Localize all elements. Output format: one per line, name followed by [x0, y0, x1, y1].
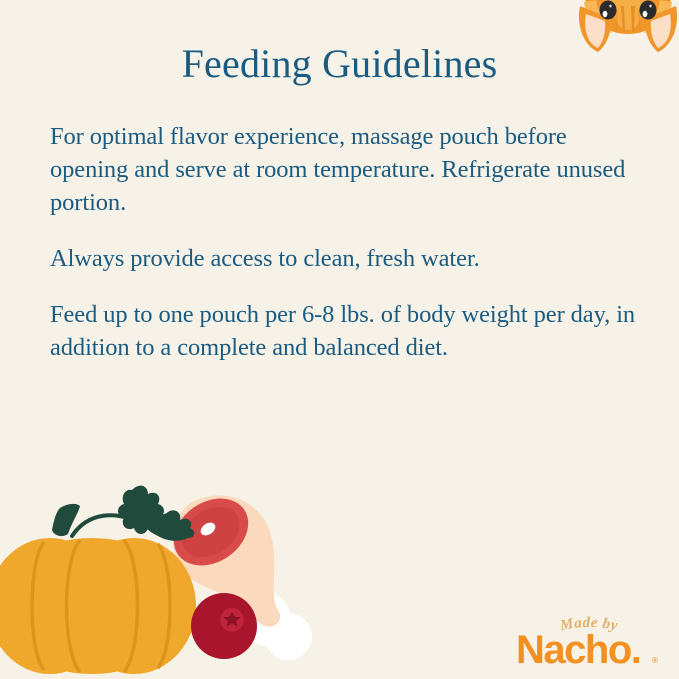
- instruction-paragraph: For optimal flavor experience, massage p…: [50, 120, 642, 219]
- registered-trademark-icon: ®: [652, 656, 658, 665]
- brand-wordmark: Nacho.: [516, 628, 640, 671]
- pumpkin-icon: [0, 486, 196, 674]
- cranberry-icon: [191, 593, 257, 659]
- feeding-guidelines-panel: Feeding Guidelines For optimal flavor ex…: [0, 0, 679, 679]
- feeding-instructions: For optimal flavor experience, massage p…: [50, 120, 642, 364]
- food-illustration: [0, 474, 352, 679]
- page-title: Feeding Guidelines: [0, 40, 679, 88]
- instruction-paragraph: Always provide access to clean, fresh wa…: [50, 242, 642, 275]
- instruction-paragraph: Feed up to one pouch per 6-8 lbs. of bod…: [50, 298, 642, 364]
- brand-logo: Made by Nacho. ®: [513, 605, 665, 671]
